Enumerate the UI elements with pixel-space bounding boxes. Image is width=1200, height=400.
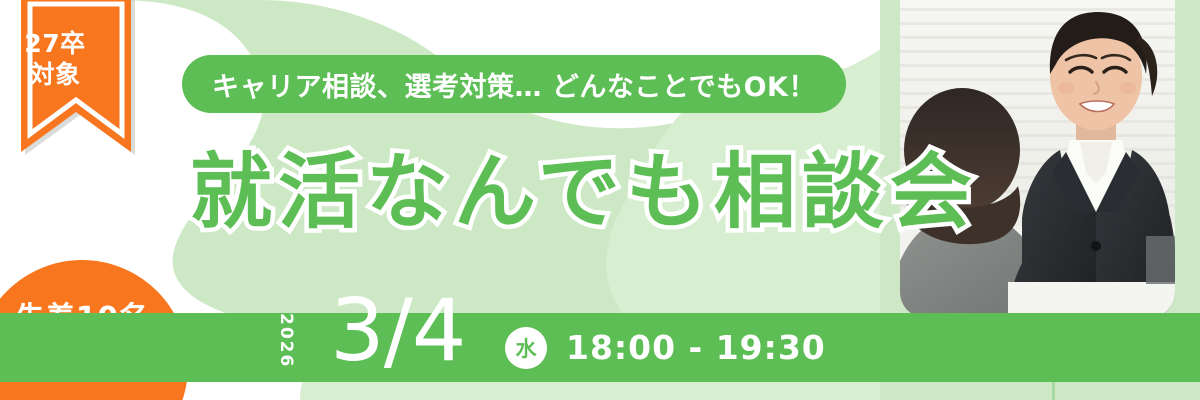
event-weekday-badge: 水 — [505, 327, 547, 369]
band-separator — [1052, 382, 1055, 400]
event-banner: 27卒 対象 キャリア相談、選考対策… どんなことでもOK！ 就活なんでも相談会… — [0, 0, 1200, 400]
event-time: 18:00 - 19:30 — [566, 313, 826, 382]
event-date: 3/4 — [330, 288, 465, 374]
ribbon-label: 27卒 対象 — [0, 28, 110, 90]
event-year: 2026 — [276, 313, 296, 382]
page-title: 就活なんでも相談会 — [190, 152, 978, 234]
catch-copy-pill: キャリア相談、選考対策… どんなことでもOK！ — [182, 55, 846, 113]
